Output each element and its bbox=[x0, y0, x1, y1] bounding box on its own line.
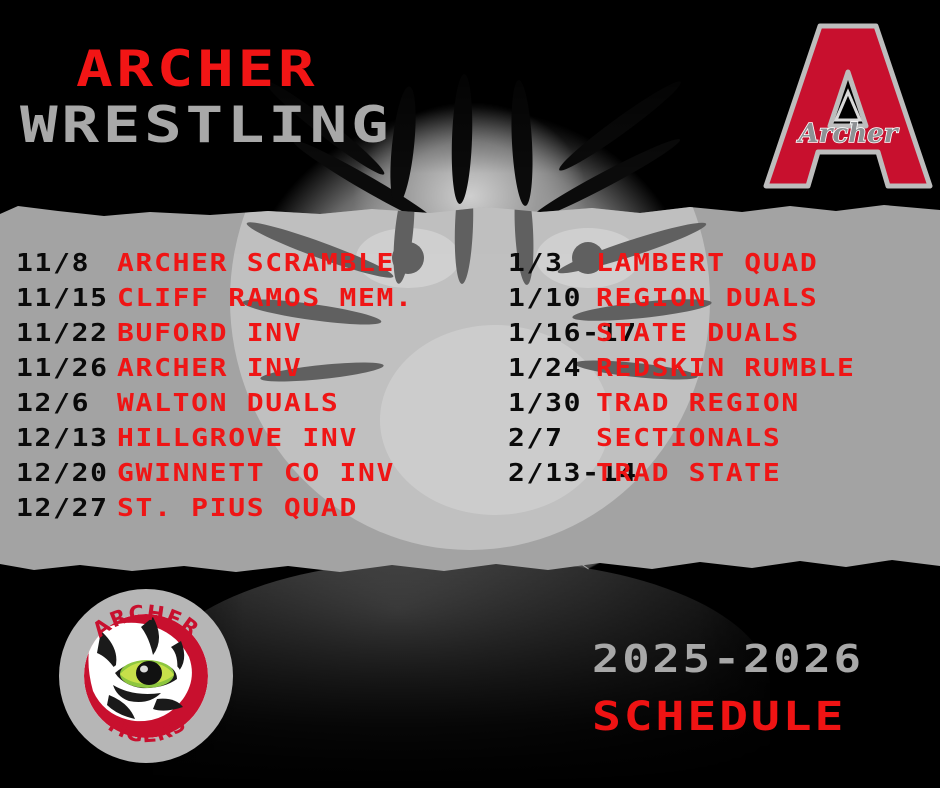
schedule-date: 12/20 bbox=[16, 460, 129, 485]
schedule-event: SECTIONALS bbox=[596, 425, 781, 450]
schedule-row: 2/7SECTIONALS bbox=[508, 425, 828, 460]
schedule-row: 12/6WALTON DUALS bbox=[16, 390, 382, 425]
archer-tigers-badge-logo: ARCHER TIGERS bbox=[57, 587, 235, 765]
schedule-event: WALTON DUALS bbox=[117, 390, 339, 415]
schedule-event: LAMBERT QUAD bbox=[596, 250, 818, 275]
schedule-event: HILLGROVE INV bbox=[117, 425, 358, 450]
schedule-date: 1/30 bbox=[508, 390, 607, 415]
schedule-date: 11/26 bbox=[16, 355, 129, 380]
schedule-row: 11/15CLIFF RAMOS MEM. bbox=[16, 285, 382, 320]
schedule-row: 1/24REDSKIN RUMBLE bbox=[508, 355, 828, 390]
schedule-date: 1/10 bbox=[508, 285, 607, 310]
schedule-date: 12/13 bbox=[16, 425, 129, 450]
schedule-event: TRAD REGION bbox=[596, 390, 800, 415]
schedule-date: 2/13-14 bbox=[508, 460, 607, 485]
schedule-event: ARCHER INV bbox=[117, 355, 302, 380]
block-a-shape bbox=[766, 26, 930, 186]
schedule-date: 1/24 bbox=[508, 355, 607, 380]
schedule-date: 2/7 bbox=[508, 425, 607, 450]
schedule-row: 1/16-17STATE DUALS bbox=[508, 320, 828, 355]
schedule-date: 11/22 bbox=[16, 320, 129, 345]
schedule-date: 11/8 bbox=[16, 250, 129, 275]
page-title-wrestling: WRESTLING bbox=[20, 100, 392, 150]
schedule-event: GWINNETT CO INV bbox=[117, 460, 395, 485]
schedule-row: 11/8ARCHER SCRAMBLE bbox=[16, 250, 382, 285]
schedule-event: TRAD STATE bbox=[596, 460, 781, 485]
schedule-event: ARCHER SCRAMBLE bbox=[117, 250, 395, 275]
schedule-row: 11/26ARCHER INV bbox=[16, 355, 382, 390]
schedule-event: REDSKIN RUMBLE bbox=[596, 355, 856, 380]
schedule-event: REGION DUALS bbox=[596, 285, 818, 310]
schedule-date: 12/6 bbox=[16, 390, 129, 415]
schedule-event: BUFORD INV bbox=[117, 320, 302, 345]
schedule-heading: SCHEDULE bbox=[592, 697, 846, 737]
schedule-row: 1/10REGION DUALS bbox=[508, 285, 828, 320]
archer-block-a-logo: Archer bbox=[762, 14, 934, 196]
schedule-column-left: 11/8ARCHER SCRAMBLE11/15CLIFF RAMOS MEM.… bbox=[16, 250, 382, 530]
schedule-row: 12/13HILLGROVE INV bbox=[16, 425, 382, 460]
block-a-script-text: Archer bbox=[796, 119, 900, 149]
schedule-row: 11/22BUFORD INV bbox=[16, 320, 382, 355]
schedule-date: 1/3 bbox=[508, 250, 607, 275]
season-year: 2025-2026 bbox=[592, 640, 864, 678]
schedule-event: STATE DUALS bbox=[596, 320, 800, 345]
schedule-event: ST. PIUS QUAD bbox=[117, 495, 358, 520]
schedule-row: 12/27ST. PIUS QUAD bbox=[16, 495, 382, 530]
schedule-row: 1/3LAMBERT QUAD bbox=[508, 250, 828, 285]
schedule-event: CLIFF RAMOS MEM. bbox=[117, 285, 414, 310]
schedule-poster: ARCHER WRESTLING Archer bbox=[0, 0, 940, 788]
schedule-date: 12/27 bbox=[16, 495, 129, 520]
schedule-row: 1/30TRAD REGION bbox=[508, 390, 828, 425]
schedule-date: 11/15 bbox=[16, 285, 129, 310]
schedule-column-right: 1/3LAMBERT QUAD1/10REGION DUALS1/16-17ST… bbox=[508, 250, 828, 495]
schedule-date: 1/16-17 bbox=[508, 320, 607, 345]
schedule-row: 2/13-14TRAD STATE bbox=[508, 460, 828, 495]
schedule-row: 12/20GWINNETT CO INV bbox=[16, 460, 382, 495]
page-title-archer: ARCHER bbox=[76, 44, 318, 94]
